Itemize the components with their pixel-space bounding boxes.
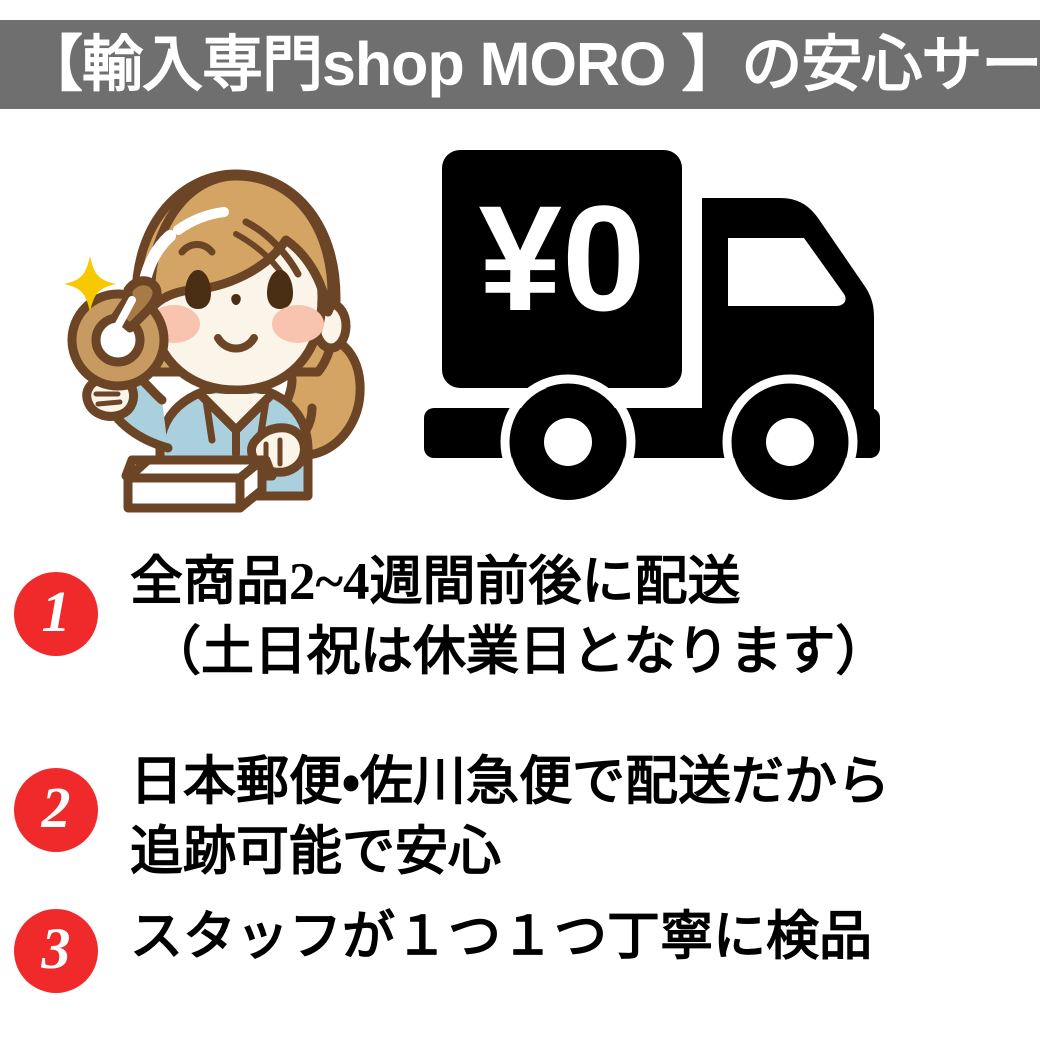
service-badge-1: 1 bbox=[14, 572, 98, 656]
illustration-area: ¥0 bbox=[0, 120, 1040, 540]
service-text-3: スタッフが１つ１つ丁寧に検品 bbox=[98, 903, 1040, 973]
service-line-1-1: 全商品2~4週間前後に配送 bbox=[130, 548, 1040, 618]
service-item-3: 3 スタッフが１つ１つ丁寧に検品 bbox=[0, 903, 1040, 993]
service-item-2: 2 日本郵便・佐川急便で配送だから 追跡可能で安心 bbox=[0, 748, 1040, 888]
service-badge-2: 2 bbox=[14, 768, 98, 852]
service-text-1: 全商品2~4週間前後に配送 （土日祝は休業日となります） bbox=[98, 548, 1040, 688]
service-text-2: 日本郵便・佐川急便で配送だから 追跡可能で安心 bbox=[98, 748, 1040, 888]
service-badge-number-2: 2 bbox=[42, 779, 71, 837]
truck-price-label: ¥0 bbox=[479, 174, 646, 342]
service-badge-number-1: 1 bbox=[42, 583, 71, 641]
service-info-banner-page: 【輸入専門shop MORO 】の安心サービス bbox=[0, 0, 1040, 1040]
service-line-2-1: 日本郵便・佐川急便で配送だから bbox=[130, 748, 1040, 818]
service-line-2-2: 追跡可能で安心 bbox=[130, 818, 1040, 888]
service-line-3-1: スタッフが１つ１つ丁寧に検品 bbox=[130, 903, 1040, 973]
truck-hub-front bbox=[766, 418, 814, 466]
cheek-right bbox=[272, 305, 324, 343]
service-badge-number-3: 3 bbox=[42, 920, 71, 978]
free-shipping-truck-illustration: ¥0 bbox=[420, 142, 980, 502]
header-banner: 【輸入専門shop MORO 】の安心サービス bbox=[0, 20, 1040, 109]
service-line-1-2: （土日祝は休業日となります） bbox=[130, 618, 1040, 688]
staff-inspecting-package-illustration bbox=[40, 148, 390, 518]
page-title: 【輸入専門shop MORO 】の安心サービス bbox=[0, 34, 1040, 95]
truck-hub-rear bbox=[544, 418, 592, 466]
service-item-1: 1 全商品2~4週間前後に配送 （土日祝は休業日となります） bbox=[0, 548, 1040, 688]
service-badge-3: 3 bbox=[14, 909, 98, 993]
